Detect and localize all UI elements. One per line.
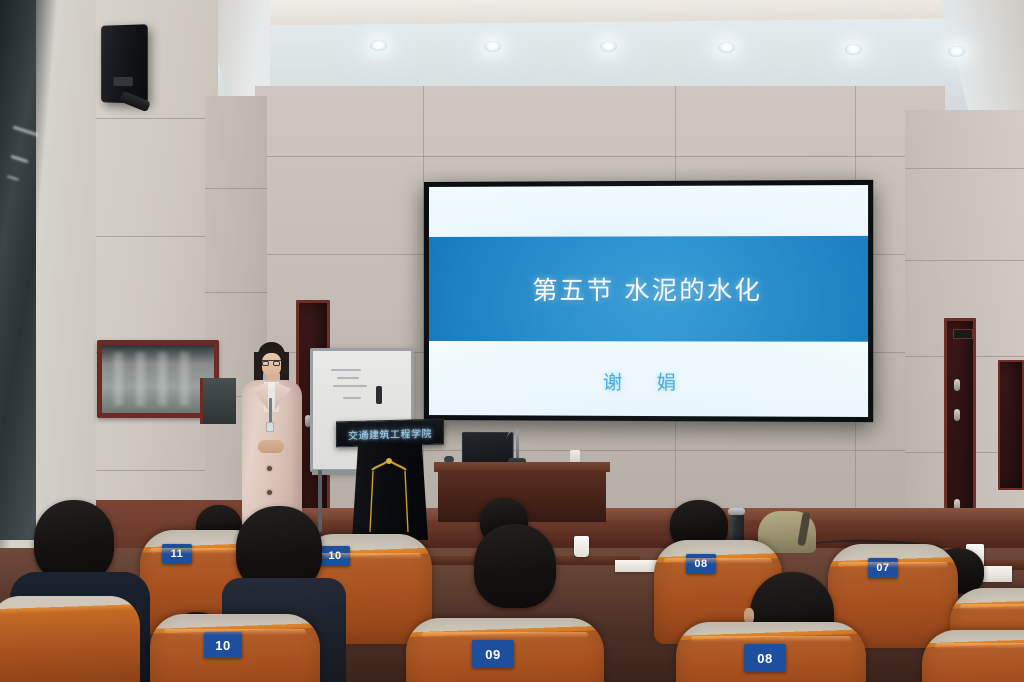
seat[interactable] bbox=[0, 596, 140, 682]
ceiling-downlight bbox=[484, 41, 501, 52]
slide-title: 第五节 水泥的水化 bbox=[429, 236, 868, 342]
presenter-hands bbox=[258, 440, 284, 453]
seat-number-badge: 10 bbox=[320, 546, 350, 566]
seat[interactable]: 10 bbox=[150, 614, 320, 682]
thermos-cap bbox=[728, 508, 745, 515]
ceiling-downlight bbox=[370, 40, 387, 51]
projection-screen-surface: 第五节 水泥的水化 谢 娟 bbox=[429, 185, 868, 417]
audience-head bbox=[474, 524, 556, 608]
ceiling-downlight bbox=[845, 44, 862, 55]
audience-head bbox=[34, 500, 114, 582]
seat-number-badge: 10 bbox=[204, 632, 242, 658]
glass-partition bbox=[0, 0, 36, 540]
podium-sign-text: 交通建筑工程学院 bbox=[348, 424, 432, 441]
podium-led-sign: 交通建筑工程学院 bbox=[336, 419, 444, 448]
seat-number-badge: 11 bbox=[162, 544, 192, 564]
whiteboard-marker bbox=[376, 386, 382, 404]
slide-bottom-area: 谢 娟 bbox=[429, 341, 868, 417]
wall-window-side bbox=[200, 378, 236, 424]
door-right[interactable] bbox=[944, 318, 976, 540]
seat-number-badge: 08 bbox=[686, 554, 716, 574]
ceiling-downlight bbox=[718, 42, 735, 53]
speaker-logo bbox=[113, 77, 132, 86]
door-far-right[interactable] bbox=[998, 360, 1024, 490]
paper-cup bbox=[574, 536, 589, 557]
seat-number-badge: 07 bbox=[868, 558, 898, 578]
seat[interactable]: 09 bbox=[406, 618, 604, 682]
left-wall-far bbox=[0, 0, 96, 560]
slide-top-area bbox=[429, 185, 868, 237]
slide-title-band: 第五节 水泥的水化 bbox=[429, 236, 868, 342]
presenter-lanyard bbox=[269, 398, 272, 424]
ceiling-downlight bbox=[948, 46, 965, 57]
presenter-badge bbox=[266, 422, 274, 432]
seat[interactable] bbox=[922, 630, 1024, 682]
seat[interactable]: 08 bbox=[676, 622, 866, 682]
presenter-glasses bbox=[262, 360, 281, 366]
seat-number-badge: 08 bbox=[744, 644, 786, 672]
seat-number-badge: 09 bbox=[472, 640, 514, 668]
ceiling-downlight bbox=[600, 41, 617, 52]
lecture-hall-scene: 第五节 水泥的水化 谢 娟 交通建筑工程学院 bbox=[0, 0, 1024, 682]
slide-author: 谢 娟 bbox=[429, 367, 868, 396]
projection-screen: 第五节 水泥的水化 谢 娟 bbox=[424, 180, 873, 422]
podium-gold-trim bbox=[360, 456, 418, 534]
